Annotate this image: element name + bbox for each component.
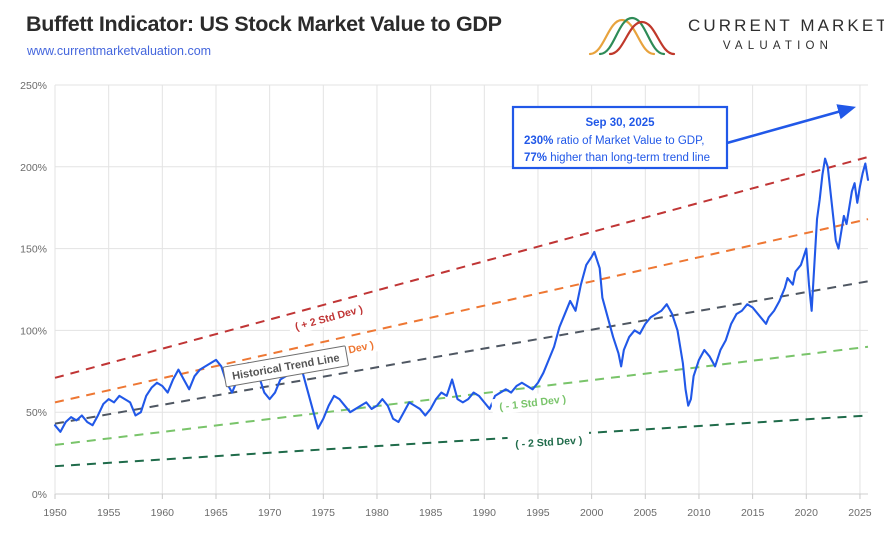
x-axis-tick-label: 1990 [473,507,497,519]
callout-arrow [727,108,852,143]
x-axis-tick-label: 2020 [795,507,819,519]
y-axis-tick-label: 50% [26,407,47,419]
band-line [55,219,868,402]
x-axis-tick-label: 1970 [258,507,282,519]
logo-curves-icon [588,12,678,58]
callout-line-3: 77% higher than long-term trend line [524,152,710,164]
x-axis-tick-label: 1985 [419,507,443,519]
page-header: Buffett Indicator: US Stock Market Value… [0,0,884,72]
x-axis-tick-label: 2010 [687,507,711,519]
source-link[interactable]: www.currentmarketvaluation.com [27,44,211,58]
band-label-group: Historical Trend Line [223,346,349,387]
callout-line-2: 230% ratio of Market Value to GDP, [524,135,704,147]
indicator-line [55,159,868,432]
x-axis-tick-label: 1960 [151,507,175,519]
y-axis-tick-label: 150% [20,244,47,256]
buffett-indicator-chart: 0%50%100%150%200%250% 195019551960196519… [0,72,884,538]
callout-date: Sep 30, 2025 [585,117,655,129]
y-axis-tick-label: 250% [20,80,47,92]
x-axis-tick-label: 2000 [580,507,604,519]
logo-wordmark: CURRENT MARKET VALUATION [688,16,868,52]
logo-line-1: CURRENT MARKET [688,16,868,36]
logo-line-2: VALUATION [688,40,868,52]
x-axis-tick-label: 1995 [526,507,550,519]
x-axis-tick-label: 1955 [97,507,121,519]
y-axis-tick-label: 200% [20,162,47,174]
chart-page: Buffett Indicator: US Stock Market Value… [0,0,884,538]
x-axis-tick-label: 2005 [634,507,658,519]
band-line [55,347,868,445]
y-axis-tick-label: 0% [32,489,47,501]
x-axis-tick-label: 1965 [204,507,228,519]
band-label-group: ( - 2 Std Dev ) [507,431,589,452]
x-axis-tick-label: 2015 [741,507,765,519]
x-axis-tick-label: 1975 [312,507,336,519]
x-axis-tick-label: 1950 [43,507,67,519]
grid-lines [55,85,868,494]
callout-annotation: Sep 30, 2025230% ratio of Market Value t… [513,107,852,168]
x-axis-tick-label: 1980 [365,507,389,519]
buffett-indicator-series [55,159,868,432]
chart-container: 0%50%100%150%200%250% 195019551960196519… [0,72,884,538]
band-labels: ( + 2 Std Dev )( + 1 Std Dev )Historical… [223,299,590,452]
band-line [55,157,868,378]
y-axis-tick-label: 100% [20,325,47,337]
band-label-group: ( - 1 Std Dev ) [491,390,574,416]
page-title: Buffett Indicator: US Stock Market Value… [26,12,502,37]
band-line [55,415,868,466]
x-axis-ticks: 1950195519601965197019751980198519901995… [43,494,871,519]
brand-logo: CURRENT MARKET VALUATION [588,8,868,62]
std-dev-band-lines [55,157,868,466]
x-axis-tick-label: 2025 [848,507,872,519]
y-axis-ticks: 0%50%100%150%200%250% [20,80,47,501]
